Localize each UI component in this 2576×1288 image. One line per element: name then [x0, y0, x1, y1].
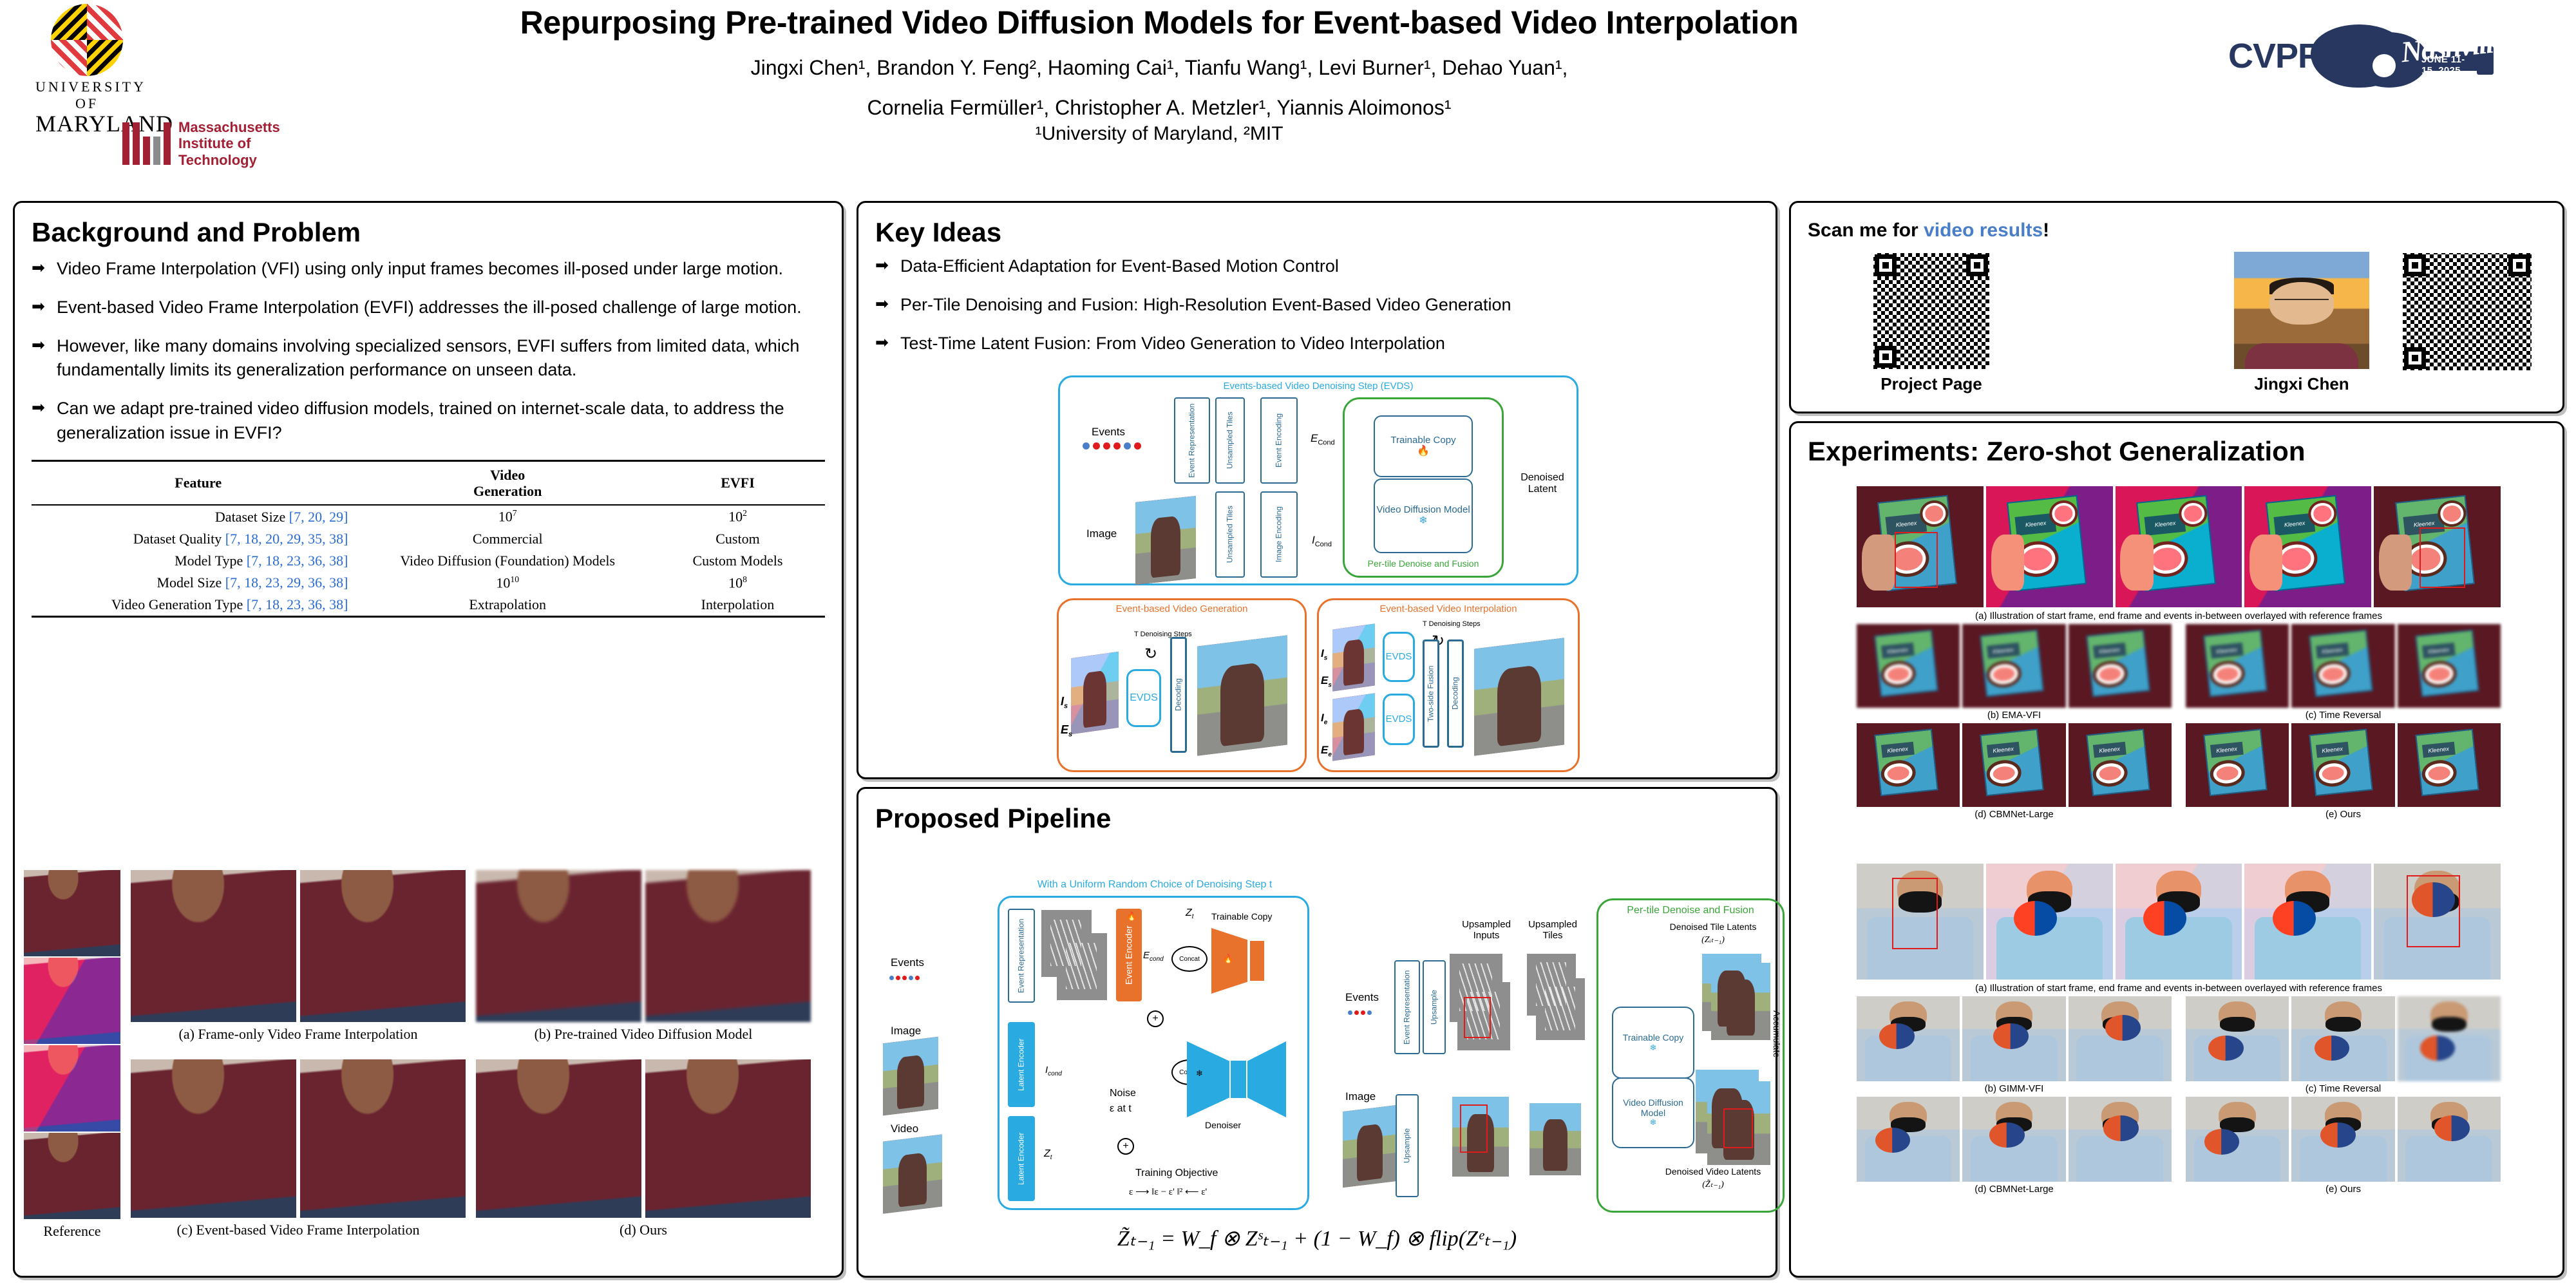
mit-line2: Institute of	[178, 135, 280, 151]
col-header-feature: Feature	[32, 460, 365, 505]
list-item: ➡Data-Efficient Adaptation for Event-Bas…	[875, 254, 1759, 279]
result-frame	[476, 870, 641, 1022]
evds-image-label: Image	[1086, 527, 1117, 540]
headshot-block: Jingxi Chen	[2234, 252, 2369, 394]
box-event-representation: Event Representation	[1174, 397, 1210, 484]
cell-video-generation: 107	[365, 505, 650, 527]
event-dots-icon	[889, 976, 920, 980]
project-page-qr-block[interactable]: Project Page	[1873, 253, 1989, 394]
list-item: ➡Video Frame Interpolation (VFI) using o…	[32, 257, 825, 281]
box-latent-encoder-video: Latent Encoder	[1008, 1116, 1035, 1201]
reference-caption: Reference	[24, 1220, 120, 1242]
experiment-group-1: Kleenex Kleenex Kleenex Kleenex Kleenex …	[1857, 486, 2501, 820]
interp-output-thumb	[1474, 638, 1564, 755]
chevron-right-icon: ➡	[875, 332, 889, 356]
denoised-video-latents-label: Denoised Video Latents	[1645, 1166, 1781, 1177]
cell-feature: Dataset Quality [7, 18, 20, 29, 35, 38]	[32, 528, 365, 550]
label-e-s: Es	[1321, 674, 1332, 688]
upsampled-image-thumb	[1452, 1097, 1509, 1177]
fire-icon: 🔥	[1417, 446, 1430, 457]
cell-feature: Model Type [7, 18, 23, 36, 38]	[32, 550, 365, 572]
result-frame	[1857, 996, 1960, 1081]
denoised-tile-latents-label: Denoised Tile Latents	[1645, 922, 1781, 932]
pipeline-events-label: Events	[891, 956, 924, 969]
pipeline-video-label: Video	[891, 1122, 918, 1135]
inference-image-thumb	[1343, 1105, 1397, 1188]
result-frame	[2186, 996, 2289, 1081]
background-title: Background and Problem	[32, 217, 825, 248]
frame-events	[1986, 864, 2113, 980]
result-frame: Kleenex	[1962, 624, 2065, 708]
cell-feature: Video Generation Type [7, 18, 23, 36, 38…	[32, 594, 365, 617]
figure-quadrant-b: (b) Pre-trained Video Diffusion Model	[476, 870, 811, 1044]
frame-start: Kleenex	[1857, 486, 1984, 607]
background-bullet-list: ➡Video Frame Interpolation (VFI) using o…	[32, 257, 825, 446]
upsampled-inputs-label: Upsampled Inputs	[1451, 919, 1522, 941]
training-objective-label: Training Objective	[1135, 1168, 1218, 1179]
figure-quadrant-a: CVPR 2025 CVPR 2025 (a) Frame-only Video…	[131, 870, 466, 1044]
result-frame: Kleenex	[2291, 723, 2394, 807]
cell-video-generation: 1010	[365, 572, 650, 594]
exp-row-b: Kleenex Kleenex Kleenex	[1857, 624, 2172, 708]
chevron-right-icon: ➡	[32, 296, 45, 320]
fire-icon: 🔥	[1126, 911, 1137, 922]
chevron-right-icon: ➡	[32, 334, 45, 383]
frame-events: Kleenex	[1986, 486, 2113, 607]
frame-events: Kleenex	[2116, 486, 2242, 607]
col-header-video-generation: VideoGeneration	[365, 460, 650, 505]
author-line-2: Cornelia Fermüller¹, Christopher A. Metz…	[386, 94, 1932, 121]
result-frame: CVPR 2025	[131, 1059, 296, 1218]
reference-frame: CVPR 2025	[24, 870, 120, 956]
plus-node-noise: +	[1117, 1138, 1134, 1155]
reference-frame-events	[24, 1045, 120, 1132]
snowflake-icon: ❄	[1419, 515, 1427, 527]
chevron-right-icon: ➡	[32, 257, 45, 281]
result-frame	[1962, 996, 2065, 1081]
chevron-right-icon: ➡	[875, 254, 889, 279]
panel-experiments: Experiments: Zero-shot Generalization Kl…	[1789, 421, 2564, 1278]
box-video-diffusion-model: Video Diffusion Model ❄	[1612, 1077, 1694, 1148]
label-z-t-top: Zt	[1186, 907, 1194, 920]
exp2-caption-d: (d) CBMNet-Large	[1857, 1184, 2172, 1195]
table-row: Dataset Quality [7, 18, 20, 29, 35, 38] …	[32, 528, 825, 550]
snowflake-icon: ❄	[1196, 1068, 1203, 1079]
frame-end	[2374, 864, 2501, 980]
frame-events: Kleenex	[2244, 486, 2371, 607]
cell-evfi: Interpolation	[650, 594, 825, 617]
table-header-row: Feature VideoGeneration EVFI	[32, 460, 825, 505]
per-tile-title: Per-tile Denoise and Fusion	[1596, 905, 1785, 916]
exp1-caption-c: (c) Time Reversal	[2186, 710, 2501, 721]
guitar-icon: Nashville JUNE 11-15, 2025	[2311, 18, 2478, 90]
result-frame	[645, 870, 811, 1022]
exp2-caption-a: (a) Illustration of start frame, end fra…	[1857, 983, 2501, 994]
trainable-copy-label: Trainable Copy	[1623, 1033, 1683, 1043]
result-frame: CVPR 2025	[131, 870, 296, 1022]
pipeline-image-label: Image	[891, 1025, 921, 1037]
avatar	[2234, 252, 2369, 369]
box-evds: EVDS	[1126, 669, 1161, 727]
cell-video-generation: Commercial	[365, 528, 650, 550]
input-frame-thumb	[1071, 652, 1119, 734]
label-i-e: Ie	[1321, 712, 1327, 726]
background-figure: CVPR 2025 CVPR 2025 Reference CVPR	[15, 866, 842, 1278]
table-row: Dataset Size [7, 20, 29] 107 102	[32, 505, 825, 527]
frame-end: Kleenex	[2374, 486, 2501, 607]
label-z-t-bottom: Zt	[1044, 1148, 1052, 1161]
snowflake-icon: ❄	[1650, 1118, 1657, 1127]
figure-quadrant-c: CVPR 2025 CVPR 2025 (c) Event-based Vide…	[131, 1059, 466, 1242]
result-frame	[1857, 1097, 1960, 1182]
result-frame: Kleenex	[2291, 624, 2394, 708]
result-frame	[1962, 1097, 2065, 1182]
box-video-diffusion-model: Video Diffusion Model ❄	[1374, 478, 1473, 553]
figure-caption-a: (a) Frame-only Video Frame Interpolation	[131, 1026, 466, 1043]
box-decoding: Decoding	[1447, 639, 1464, 748]
result-frame: CVPR 2025	[476, 1059, 641, 1218]
experiments-title: Experiments: Zero-shot Generalization	[1808, 436, 2546, 467]
scan-me-text: Scan me for video results!	[1808, 220, 2049, 241]
label-e-s: Es	[1061, 723, 1072, 739]
cvpr-logo: CVPR Nashville JUNE 11-15, 2025	[2228, 18, 2550, 95]
reference-strip: CVPR 2025 CVPR 2025 Reference	[24, 870, 120, 1242]
box-decoding: Decoding	[1170, 637, 1187, 753]
box-evds-bottom: EVDS	[1383, 694, 1415, 745]
upsampled-tiles-label: Upsampled Tiles	[1520, 919, 1585, 941]
inference-events-label: Events	[1345, 991, 1379, 1004]
label-i-cond: ICond	[1312, 534, 1332, 548]
key-ideas-bullet-list: ➡Data-Efficient Adaptation for Event-Bas…	[875, 254, 1759, 355]
event-based-video-generation-box: Event-based Video Generation Is Es EVDS …	[1057, 598, 1308, 773]
col-header-evfi: EVFI	[650, 460, 825, 505]
result-frame	[2069, 1097, 2172, 1182]
panel-proposed-pipeline: Proposed Pipeline With a Uniform Random …	[857, 787, 1777, 1278]
result-frame: Kleenex	[1962, 723, 2065, 807]
label-e-e: Ee	[1321, 744, 1332, 758]
video-diffusion-model-label: Video Diffusion Model	[1613, 1098, 1693, 1118]
exp-row-c: Kleenex Kleenex Kleenex	[2186, 624, 2501, 708]
title-block: Repurposing Pre-trained Video Diffusion …	[386, 4, 1932, 145]
box-upsample-top: Upsample	[1423, 960, 1446, 1054]
cell-evfi: Custom	[650, 528, 825, 550]
generation-title: Event-based Video Generation	[1057, 603, 1307, 614]
umd-logo-line1: UNIVERSITY OF	[35, 79, 138, 112]
poster-header: UNIVERSITY OF MARYLAND Massachusetts Ins…	[0, 0, 2576, 193]
video-diffusion-model-label: Video Diffusion Model	[1376, 505, 1470, 516]
personal-qr-block[interactable]	[2403, 253, 2532, 370]
person-name-label: Jingxi Chen	[2234, 374, 2369, 394]
exp-row-d	[1857, 1097, 2172, 1182]
box-upsample-bottom: Upsample	[1396, 1094, 1419, 1197]
result-frame: Kleenex	[2186, 723, 2289, 807]
evds-events-label: Events	[1092, 426, 1125, 439]
mit-wordmark: Massachusetts Institute of Technology	[178, 119, 280, 168]
exp-row-overlay: Kleenex Kleenex Kleenex Kleenex Kleenex	[1857, 486, 2501, 607]
snowflake-icon: ❄	[1650, 1043, 1657, 1052]
fire-icon: 🔥	[1223, 954, 1233, 964]
concat-node-top: Concat	[1171, 946, 1207, 972]
result-frame: Kleenex	[2186, 624, 2289, 708]
fusion-equation: Z̃ₜ₋₁ = W_f ⊗ Zˢₜ₋₁ + (1 − W_f) ⊗ flip(Z…	[858, 1226, 1776, 1251]
cell-video-generation: Extrapolation	[365, 594, 650, 617]
frame-events	[2116, 864, 2242, 980]
result-frame	[2398, 996, 2501, 1081]
noise-label: Noise	[1110, 1088, 1136, 1099]
panel-key-ideas: Key Ideas ➡Data-Efficient Adaptation for…	[857, 201, 1777, 779]
exp-row-e: Kleenex Kleenex Kleenex	[2186, 723, 2501, 807]
chevron-right-icon: ➡	[875, 293, 889, 317]
box-event-encoder: Event Encoder	[1116, 909, 1142, 1001]
exp1-caption-b: (b) EMA-VFI	[1857, 710, 2172, 721]
exp2-caption-b: (b) GIMM-VFI	[1857, 1083, 2172, 1094]
list-item: ➡Per-Tile Denoising and Fusion: High-Res…	[875, 293, 1759, 317]
result-frame: CVPR 2025	[300, 870, 466, 1022]
mit-line3: Technology	[178, 152, 280, 168]
table-row: Video Generation Type [7, 18, 23, 36, 38…	[32, 594, 825, 617]
exp-row-d: Kleenex Kleenex Kleenex	[1857, 723, 2172, 807]
figure-caption-c: (c) Event-based Video Frame Interpolatio…	[131, 1222, 466, 1238]
box-image-encoding: Image Encoding	[1260, 491, 1298, 578]
denoised-tile-latents-symbol: (Zᵢₜ₋₁)	[1645, 934, 1781, 945]
box-unsampled-tiles-top: Unsampled Tiles	[1215, 397, 1245, 484]
list-item: ➡Test-Time Latent Fusion: From Video Gen…	[875, 332, 1759, 356]
denoised-video-latents-symbol: (Z̃ₜ₋₁)	[1645, 1179, 1781, 1190]
event-dots-icon	[1348, 1010, 1372, 1015]
project-page-label: Project Page	[1873, 374, 1989, 394]
label-i-s: Is	[1061, 695, 1068, 710]
poster-root: UNIVERSITY OF MARYLAND Massachusetts Ins…	[0, 0, 2576, 1288]
frame-events	[2244, 864, 2371, 980]
list-item: ➡Can we adapt pre-trained video diffusio…	[32, 397, 825, 446]
box-unsampled-tiles-bottom: Unsampled Tiles	[1215, 491, 1245, 578]
denoiser-label: Denoiser	[1205, 1120, 1241, 1130]
box-two-side-fusion: Two-side Fusion	[1423, 639, 1439, 748]
exp1-caption-d: (d) CBMNet-Large	[1857, 809, 2172, 820]
result-frame: Kleenex	[2069, 723, 2172, 807]
exp-row-e	[2186, 1097, 2501, 1182]
exp-row-c	[2186, 996, 2501, 1081]
eps-at-t-label: ε at t	[1110, 1103, 1132, 1115]
result-frame	[2291, 1097, 2394, 1182]
cell-evfi: 108	[650, 572, 825, 594]
figure-caption-d: (d) Ours	[476, 1222, 811, 1238]
evds-diagram: Events-based Video Denoising Step (EVDS)…	[1058, 375, 1580, 588]
result-frame: Kleenex	[1857, 723, 1960, 807]
box-evds-top: EVDS	[1383, 632, 1415, 682]
upsampled-image-tile	[1529, 1103, 1581, 1175]
reference-frame: CVPR 2025	[24, 1133, 120, 1219]
table-row: Model Size [7, 18, 23, 29, 36, 38] 1010 …	[32, 572, 825, 594]
result-frame	[2291, 996, 2394, 1081]
result-frame: Kleenex	[2398, 723, 2501, 807]
pipeline-video-thumb	[883, 1134, 942, 1213]
result-frame: Kleenex	[2069, 624, 2172, 708]
experiment-group-2: (a) Illustration of start frame, end fra…	[1857, 864, 2501, 1195]
exp-row-b	[1857, 996, 2172, 1081]
result-frame: Kleenex	[1857, 624, 1960, 708]
start-frame-thumb	[1332, 623, 1375, 691]
denoiser-bottleneck	[1231, 1061, 1246, 1098]
page-title: Repurposing Pre-trained Video Diffusion …	[386, 4, 1932, 41]
uniform-title: With a Uniform Random Choice of Denoisin…	[974, 879, 1335, 891]
plus-node-mid: +	[1147, 1010, 1164, 1027]
result-frame: CVPR 2025	[300, 1059, 466, 1218]
mit-bars-icon	[122, 122, 171, 165]
label-i-s: Is	[1321, 647, 1327, 661]
project-page-qr-code[interactable]	[1873, 253, 1989, 369]
figure-quadrant-d: CVPR 2025 CVPR 2025 (d) Ours	[476, 1059, 811, 1242]
pipeline-title: Proposed Pipeline	[875, 803, 1759, 834]
inference-image-label: Image	[1345, 1090, 1376, 1103]
cell-feature: Model Size [7, 18, 23, 29, 36, 38]	[32, 572, 365, 594]
exp1-caption-e: (e) Ours	[2186, 809, 2501, 820]
trainable-copy-label: Trainable Copy	[1211, 911, 1272, 922]
loop-arrow-icon: ↻	[1144, 645, 1157, 663]
result-frame	[2186, 1097, 2289, 1182]
label-e-cond: ECond	[1311, 432, 1335, 446]
result-frame	[2069, 996, 2172, 1081]
frame-start	[1857, 864, 1984, 980]
exp-row-overlay	[1857, 864, 2501, 980]
pipeline-image-thumb	[883, 1037, 938, 1116]
denoised-latent-label: Denoised Latent	[1511, 472, 1573, 495]
table-row: Model Type [7, 18, 23, 36, 38] Video Dif…	[32, 550, 825, 572]
mit-line1: Massachusetts	[178, 119, 280, 135]
personal-qr-code[interactable]	[2403, 253, 2532, 370]
panel-qr-codes: Scan me for video results! Project Page …	[1789, 201, 2564, 413]
panel-background-and-problem: Background and Problem ➡Video Frame Inte…	[13, 201, 844, 1278]
list-item: ➡Event-based Video Frame Interpolation (…	[32, 296, 825, 320]
event-based-video-interpolation-box: Event-based Video Interpolation Is Es Ie…	[1317, 598, 1581, 773]
result-frame	[2398, 1097, 2501, 1182]
box-event-representation: Event Representation	[1008, 909, 1035, 1003]
evds-title: Events-based Video Denoising Step (EVDS)	[1058, 381, 1578, 392]
end-frame-thumb	[1332, 693, 1375, 761]
input-image-thumb	[1135, 496, 1196, 585]
cvpr-wordmark: CVPR	[2228, 36, 2322, 76]
cvpr-date-label: JUNE 11-15, 2025	[2421, 54, 2478, 76]
video-results-highlight: video results	[1924, 220, 2043, 241]
chevron-right-icon: ➡	[32, 397, 45, 446]
result-frame: CVPR 2025	[645, 1059, 811, 1218]
interpolation-title: Event-based Video Interpolation	[1317, 603, 1580, 614]
key-ideas-title: Key Ideas	[875, 217, 1759, 248]
event-dots-icon	[1083, 442, 1141, 450]
label-e-cond: Econd	[1143, 950, 1164, 963]
trainable-copy-label: Trainable Copy	[1390, 435, 1455, 446]
list-item: ➡However, like many domains involving sp…	[32, 334, 825, 383]
umd-logo: UNIVERSITY OF MARYLAND	[35, 4, 138, 107]
exp2-caption-c: (c) Time Reversal	[2186, 1083, 2501, 1094]
cell-evfi: 102	[650, 505, 825, 527]
affiliation-line: ¹University of Maryland, ²MIT	[386, 123, 1932, 145]
figure-caption-b: (b) Pre-trained Video Diffusion Model	[476, 1026, 811, 1043]
accumulate-label: Accumulate	[1772, 1010, 1782, 1057]
cell-evfi: Custom Models	[650, 550, 825, 572]
pipeline-inference-diagram: Events Image Event Representation Upsamp…	[1354, 884, 1766, 1226]
box-event-representation: Event Representation	[1394, 960, 1420, 1054]
box-trainable-copy: Trainable Copy ❄	[1612, 1007, 1694, 1079]
label-i-cond: Icond	[1045, 1065, 1062, 1077]
umd-shield-icon	[51, 4, 123, 76]
exp1-caption-a: (a) Illustration of start frame, end fra…	[1857, 611, 2501, 621]
cell-feature: Dataset Size [7, 20, 29]	[32, 505, 365, 527]
cell-video-generation: Video Diffusion (Foundation) Models	[365, 550, 650, 572]
box-trainable-copy: Trainable Copy 🔥	[1374, 415, 1473, 477]
comparison-table: Feature VideoGeneration EVFI Dataset Siz…	[32, 460, 825, 618]
box-event-encoding: Event Encoding	[1260, 397, 1298, 484]
loss-equation: ε ⟶ ‖ε − ε' ‖² ⟵ ε'	[1129, 1186, 1207, 1198]
t-denoise-steps-label: T Denoising Steps	[1423, 620, 1481, 628]
output-frames-thumb	[1197, 635, 1287, 755]
exp2-caption-e: (e) Ours	[2186, 1184, 2501, 1195]
author-line-1: Jingxi Chen¹, Brandon Y. Feng², Haoming …	[386, 54, 1932, 81]
reference-frame-events	[24, 958, 120, 1044]
per-tile-label: Per-tile Denoise and Fusion	[1343, 558, 1504, 569]
result-frame: Kleenex	[2398, 624, 2501, 708]
mit-logo: Massachusetts Institute of Technology	[122, 119, 280, 168]
trainable-copy-block	[1250, 941, 1264, 981]
pipeline-training-diagram: With a Uniform Random Choice of Denoisin…	[974, 879, 1335, 1227]
box-latent-encoder-image: Latent Encoder	[1008, 1022, 1035, 1107]
